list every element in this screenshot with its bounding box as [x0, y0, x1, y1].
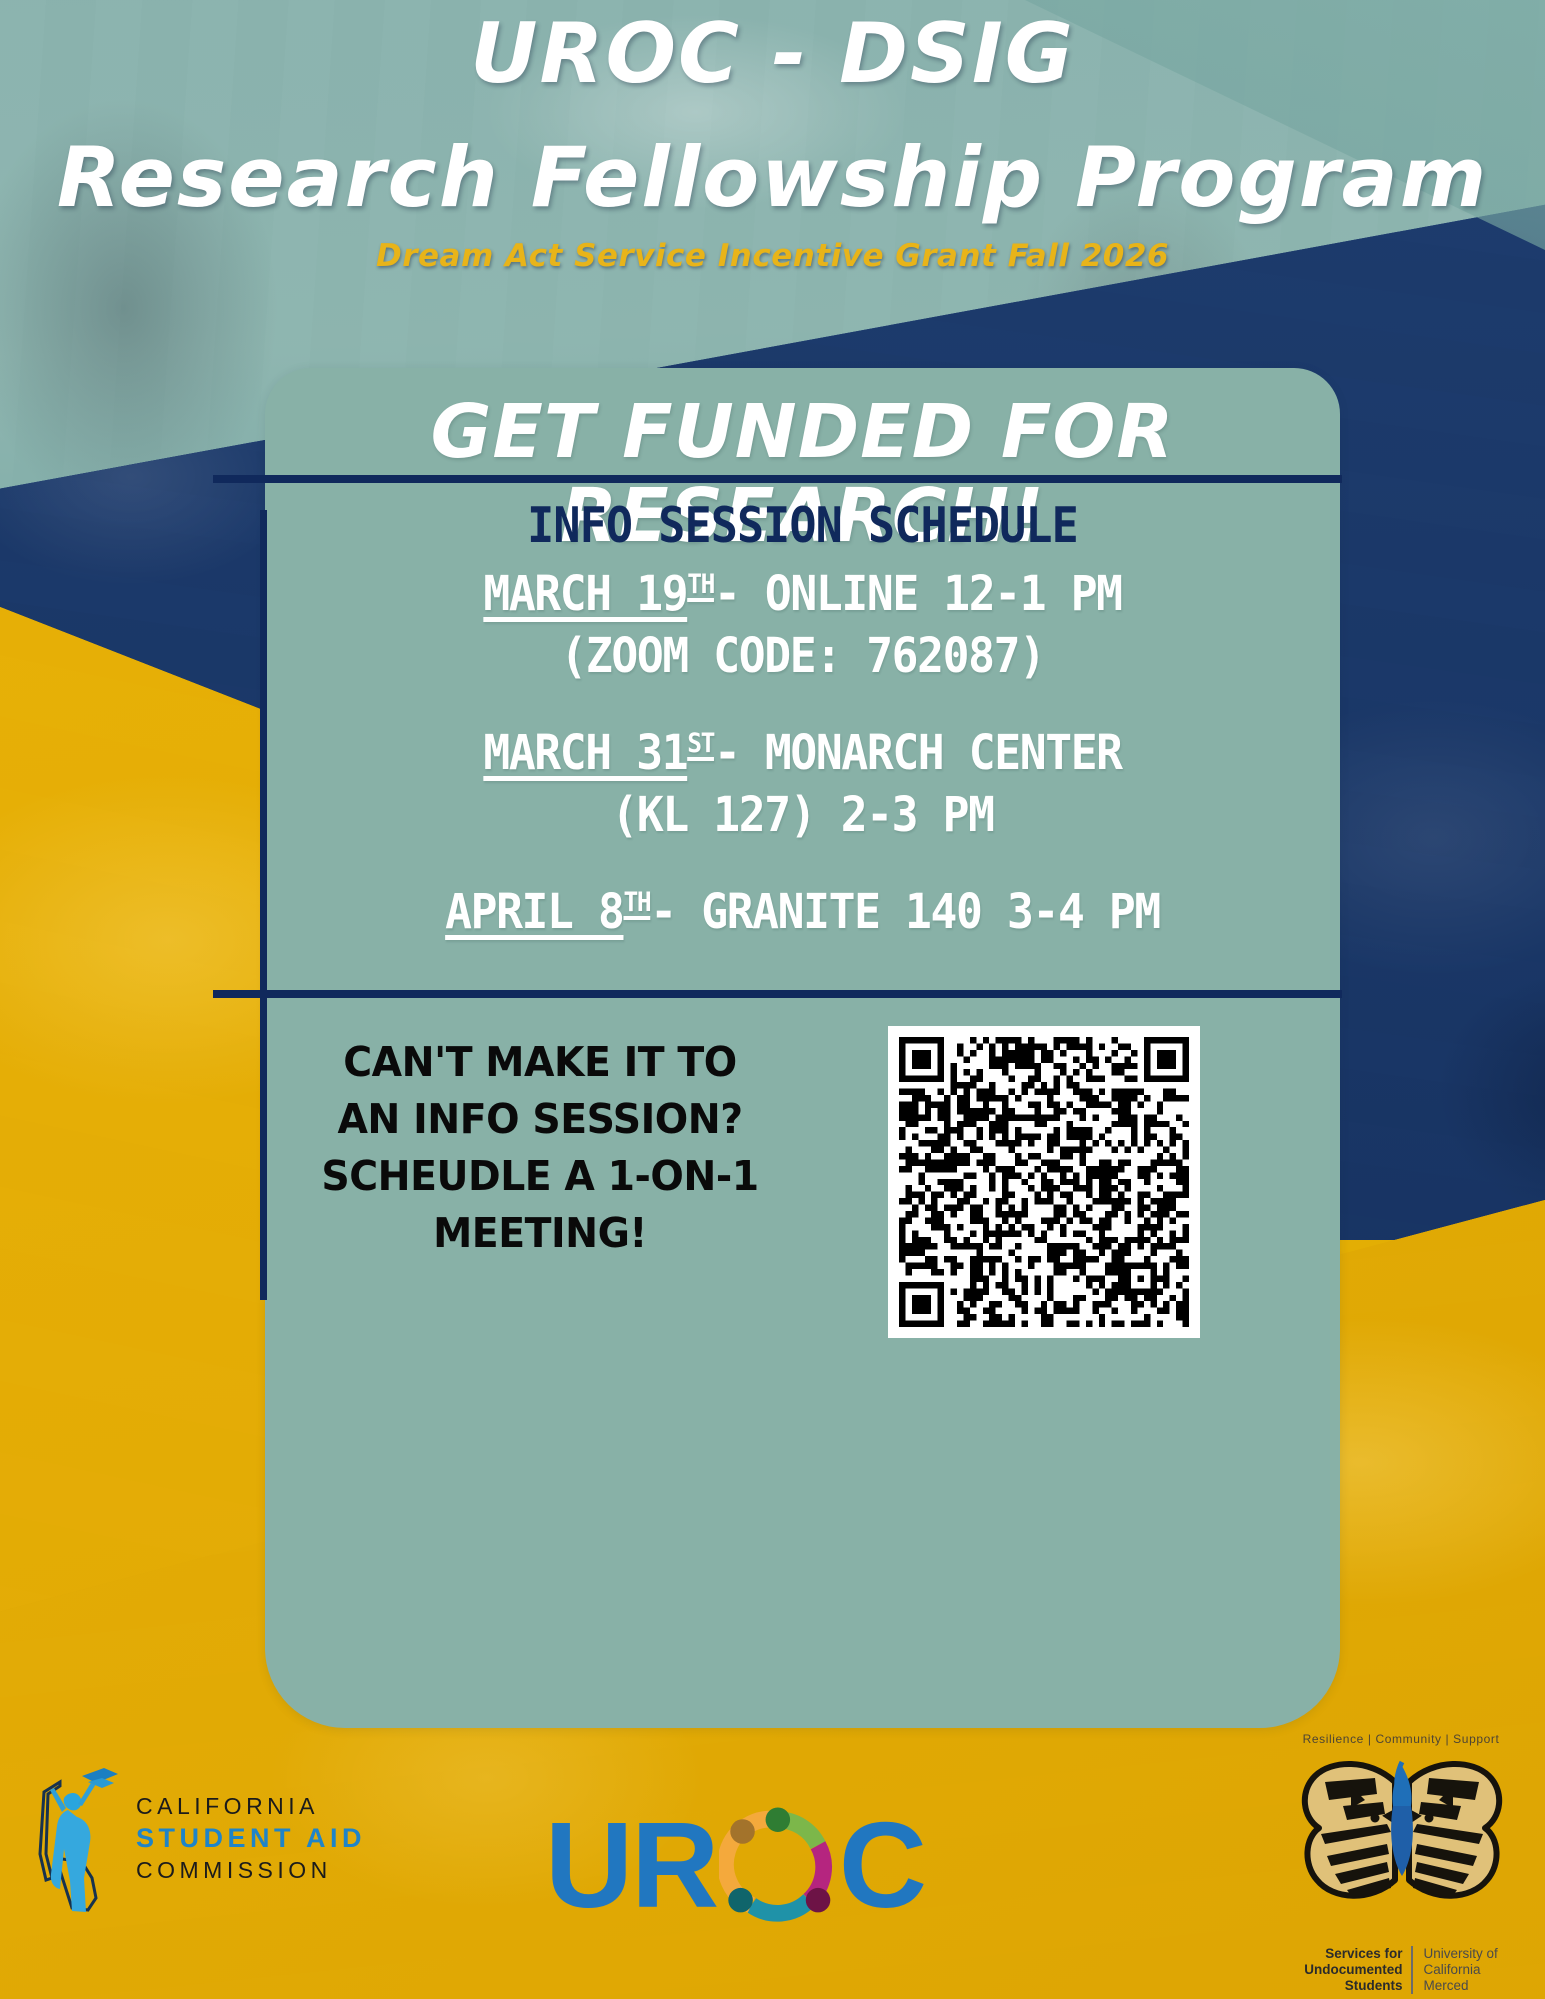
event-3-ordinal: TH: [623, 887, 650, 918]
event-2-date: MARCH 31: [483, 725, 687, 781]
qr-code-svg: [899, 1037, 1189, 1327]
schedule-event-3: APRIL 8TH- GRANITE 140 3-4 PM: [303, 872, 1303, 943]
schedule-heading: INFO SESSION SCHEDULE: [308, 498, 1297, 554]
cta-line-2: AN INFO SESSION?: [289, 1091, 790, 1148]
schedule-event-1: MARCH 19TH- ONLINE 12-1 PM: [303, 554, 1303, 625]
sus-univ-line-3: Merced: [1423, 1978, 1497, 1994]
uroc-suffix: C: [839, 1804, 925, 1926]
event-2-ordinal: ST: [687, 728, 714, 759]
sus-univ-line-2: California: [1423, 1962, 1497, 1978]
csac-line-1: CALIFORNIA: [136, 1795, 366, 1818]
csac-line-2: STUDENT AID: [136, 1825, 366, 1852]
butterfly-svg: [1291, 1752, 1513, 1940]
sus-tagline: Resilience | Community | Support: [1265, 1732, 1537, 1746]
sus-university: University of California Merced: [1423, 1946, 1497, 1994]
spacer-1: [265, 687, 1340, 713]
sus-name-line-2: Undocumented: [1304, 1962, 1402, 1978]
sus-name-line-1: Services for: [1304, 1946, 1402, 1962]
schedule-event-2: MARCH 31ST- MONARCH CENTER: [303, 713, 1303, 784]
event-3-date: APRIL 8: [445, 884, 623, 940]
event-2-detail: - MONARCH CENTER: [714, 725, 1122, 781]
uroc-prefix: UR: [545, 1804, 717, 1926]
cta-line-4: MEETING!: [289, 1205, 790, 1262]
csac-line-3: COMMISSION: [136, 1859, 366, 1882]
divider-top: [213, 475, 1342, 483]
butterfly-icon: [1291, 1752, 1513, 1940]
uroc-ring-svg: [719, 1806, 837, 1924]
content-card: GET FUNDED FOR RESEARCH! INFO SESSION SC…: [265, 368, 1340, 1728]
cta-line-3: SCHEUDLE A 1-ON-1: [289, 1148, 790, 1205]
logo-uroc: UR C: [545, 1800, 925, 1930]
cta-text: CAN'T MAKE IT TO AN INFO SESSION? SCHEUD…: [289, 1034, 790, 1262]
schedule-event-2-sub: (KL 127) 2-3 PM: [303, 784, 1303, 846]
left-accent-rail: [260, 510, 267, 1300]
sus-name: Services for Undocumented Students: [1304, 1946, 1413, 1994]
sus-footer: Services for Undocumented Students Unive…: [1265, 1946, 1537, 1994]
event-1-date: MARCH 19: [483, 566, 687, 622]
logo-california-student-aid-commission: CALIFORNIA STUDENT AID COMMISSION: [30, 1748, 370, 1928]
poster-subtitle: Dream Act Service Incentive Grant Fall 2…: [0, 238, 1545, 274]
divider-bottom: [213, 990, 1342, 998]
csac-wordmark: CALIFORNIA STUDENT AID COMMISSION: [136, 1795, 366, 1882]
sus-univ-line-1: University of: [1423, 1946, 1497, 1962]
poster-root: UROC - DSIG Research Fellowship Program …: [0, 0, 1545, 1999]
graduate-silhouette-svg: [30, 1758, 122, 1918]
qr-code-image: [899, 1037, 1189, 1327]
headline-line-1: GET FUNDED FOR: [265, 390, 1340, 474]
sus-name-line-3: Students: [1304, 1978, 1402, 1994]
cta-line-1: CAN'T MAKE IT TO: [289, 1034, 790, 1091]
event-3-detail: - GRANITE 140 3-4 PM: [650, 884, 1160, 940]
qr-code[interactable]: [888, 1026, 1200, 1338]
event-1-detail: - ONLINE 12-1 PM: [714, 566, 1122, 622]
spacer-2: [265, 846, 1340, 872]
schedule-event-1-sub: (ZOOM CODE: 762087): [303, 625, 1303, 687]
logo-services-undocumented-students: Resilience | Community | Support: [1265, 1730, 1537, 1999]
graduate-silhouette-icon: [30, 1758, 122, 1918]
event-1-ordinal: TH: [687, 569, 714, 600]
uroc-ring-icon: [719, 1806, 837, 1924]
schedule-block: INFO SESSION SCHEDULE MARCH 19TH- ONLINE…: [265, 498, 1340, 943]
